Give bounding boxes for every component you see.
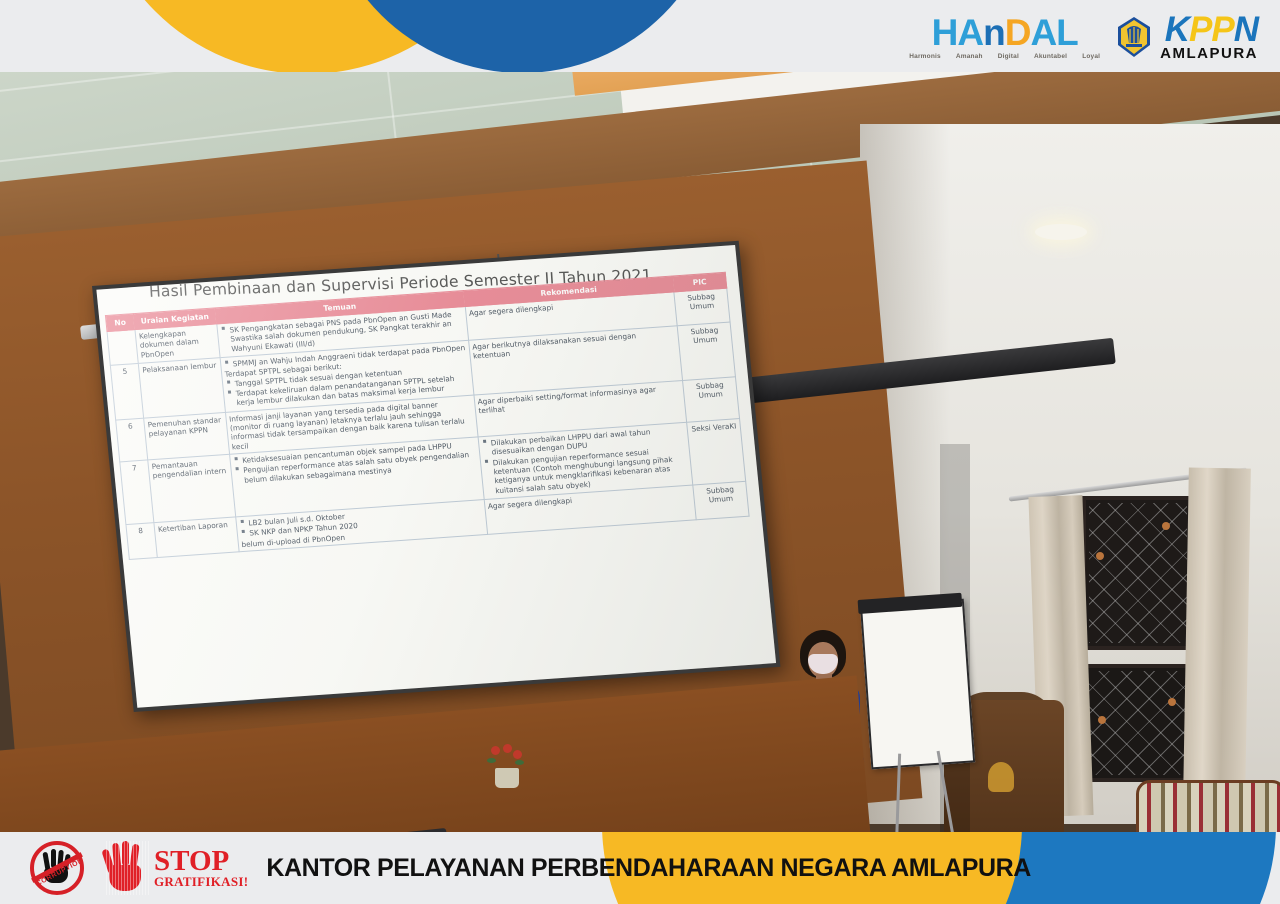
handal-part-al: AL bbox=[1030, 14, 1077, 51]
flower-icon bbox=[503, 744, 512, 753]
kppn-office-name: AMLAPURA bbox=[1160, 45, 1258, 62]
chair-emblem-icon bbox=[988, 762, 1014, 792]
striped-sofa bbox=[1136, 780, 1280, 840]
cell-uraian: Pemenuhan standar pelayanan KPPN bbox=[143, 412, 229, 460]
stop-gratifikasi-logo: STOP GRATIFIKASI! bbox=[104, 841, 248, 895]
cell-pic: Subbag Umum bbox=[677, 322, 735, 380]
window-knob bbox=[1168, 698, 1176, 706]
leaf-icon bbox=[515, 760, 524, 765]
projection-screen: Hasil Pembinaan dan Supervisi Periode Se… bbox=[92, 241, 780, 712]
bottom-banner: CORRUPTION STOP GRATIFIKASI! KANTOR PELA… bbox=[0, 832, 1280, 904]
kppn-letter-k: K bbox=[1165, 10, 1189, 49]
handal-value-loyal: Loyal bbox=[1082, 53, 1100, 60]
stop-text-block: STOP GRATIFIKASI! bbox=[154, 848, 248, 888]
flower-pot bbox=[495, 768, 519, 788]
gratifikasi-label: GRATIFIKASI! bbox=[154, 876, 248, 888]
cell-no: 6 bbox=[116, 418, 148, 462]
handal-part-n: n bbox=[983, 14, 1005, 51]
cell-uraian: Pemantauan pengendalian intern bbox=[148, 454, 236, 522]
no-corruption-icon: CORRUPTION bbox=[28, 839, 86, 897]
cell-pic: Subbag Umum bbox=[683, 376, 740, 422]
screenshot-frame: HAnDAL Harmonis Amanah Digital Akuntabel… bbox=[0, 0, 1280, 904]
stop-label: STOP bbox=[154, 848, 248, 876]
findings-table: No Uraian Kegiatan Temuan Rekomendasi PI… bbox=[105, 272, 750, 560]
cell-uraian: Pelaksanaan lembur bbox=[138, 358, 225, 418]
flipchart-paper bbox=[860, 599, 975, 770]
cell-no bbox=[107, 330, 138, 366]
flower-decoration bbox=[487, 744, 527, 788]
window-knob bbox=[1096, 552, 1104, 560]
kppn-letter-n: N bbox=[1234, 10, 1258, 49]
kppn-wordmark: KPPN bbox=[1165, 12, 1258, 47]
kemenkeu-seal-icon bbox=[1114, 15, 1154, 59]
presentation-slide: Hasil Pembinaan dan Supervisi Periode Se… bbox=[96, 245, 776, 708]
meeting-room-photo: Hasil Pembinaan dan Supervisi Periode Se… bbox=[0, 64, 1280, 840]
red-hand-icon bbox=[104, 841, 150, 895]
office-title: KANTOR PELAYANAN PERBENDAHARAAN NEGARA A… bbox=[266, 854, 1031, 883]
handal-value-amanah: Amanah bbox=[956, 53, 983, 60]
handal-wordmark: HAnDAL bbox=[932, 14, 1078, 51]
kppn-logo: KPPN AMLAPURA bbox=[1114, 12, 1258, 62]
window-knob bbox=[1162, 522, 1170, 530]
cell-no: 8 bbox=[126, 523, 157, 560]
handal-logo: HAnDAL Harmonis Amanah Digital Akuntabel… bbox=[909, 14, 1100, 60]
flower-icon bbox=[491, 746, 500, 755]
cell-pic: Subbag Umum bbox=[674, 288, 730, 326]
handal-part-d: D bbox=[1005, 14, 1031, 51]
window-upper bbox=[1082, 496, 1194, 650]
leaf-icon bbox=[487, 758, 496, 763]
kppn-letters-pp: PP bbox=[1189, 10, 1234, 49]
slide-surface: Hasil Pembinaan dan Supervisi Periode Se… bbox=[96, 245, 776, 708]
logo-group: HAnDAL Harmonis Amanah Digital Akuntabel… bbox=[909, 6, 1258, 68]
cell-pic: Seksi VeraKI bbox=[687, 419, 746, 485]
window-grille bbox=[1089, 503, 1187, 643]
curtain-right bbox=[1183, 467, 1251, 798]
cell-pic: Subbag Umum bbox=[693, 481, 749, 519]
handal-value-digital: Digital bbox=[998, 53, 1019, 60]
flower-icon bbox=[513, 750, 522, 759]
ceiling-light bbox=[1035, 224, 1087, 240]
bottom-banner-content: CORRUPTION STOP GRATIFIKASI! KANTOR PELA… bbox=[0, 832, 1280, 904]
handal-value-harmonis: Harmonis bbox=[909, 53, 941, 60]
window-knob bbox=[1098, 716, 1106, 724]
handal-value-akuntabel: Akuntabel bbox=[1034, 53, 1067, 60]
flipchart bbox=[859, 589, 976, 792]
top-banner: HAnDAL Harmonis Amanah Digital Akuntabel… bbox=[0, 0, 1280, 72]
window-lower bbox=[1082, 664, 1194, 782]
handal-part-ha: HA bbox=[932, 14, 983, 51]
cell-uraian: Kelengkapan dokumen dalam PbnOpen bbox=[135, 324, 220, 364]
kppn-text-block: KPPN AMLAPURA bbox=[1160, 12, 1258, 62]
handal-values: Harmonis Amanah Digital Akuntabel Loyal bbox=[909, 53, 1100, 60]
cell-uraian: Ketertiban Laporan bbox=[154, 517, 239, 558]
